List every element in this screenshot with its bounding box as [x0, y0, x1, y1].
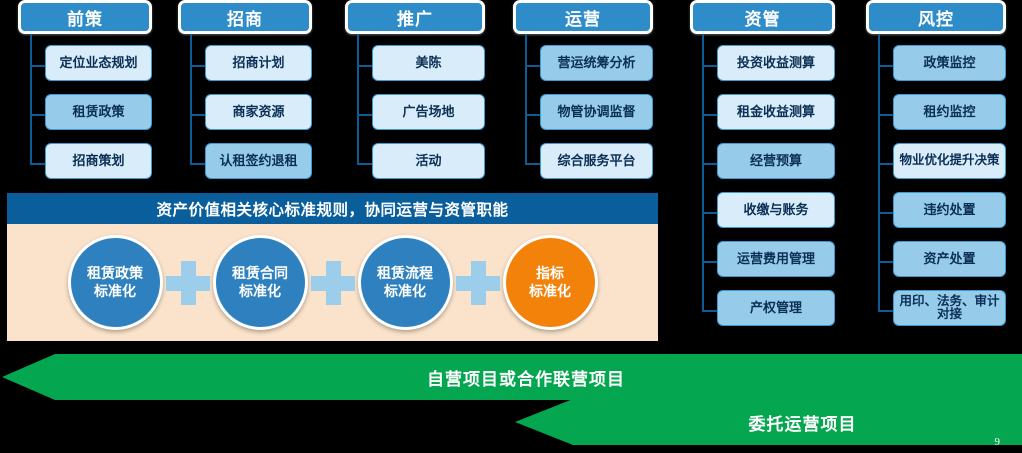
connector-stub: [525, 114, 541, 116]
column-header[interactable]: 招商: [178, 0, 312, 34]
column-items: 营运统筹分析物管协调监督综合服务平台: [513, 42, 653, 189]
item-row: 租赁政策: [18, 91, 152, 140]
connector-stub: [702, 310, 718, 312]
item-row: 活动: [345, 140, 485, 189]
item-row: 招商计划: [178, 42, 312, 91]
connector-stub: [878, 310, 894, 312]
arrow-self-operated: 自营项目或合作联营项目: [0, 354, 1022, 400]
item-row: 物业优化提升决策: [866, 140, 1006, 189]
function-item[interactable]: 物业优化提升决策: [893, 143, 1006, 179]
diagram-canvas: 前策定位业态规划租赁政策招商策划招商招商计划商家资源认租签约退租推广美陈广告场地…: [0, 0, 1022, 453]
plus-icon: [311, 261, 355, 305]
connector-stub: [702, 163, 718, 165]
item-row: 投资收益测算: [690, 42, 835, 91]
connector-stub: [357, 163, 373, 165]
function-item[interactable]: 美陈: [372, 45, 485, 81]
connector-stub: [878, 114, 894, 116]
item-row: 定位业态规划: [18, 42, 152, 91]
function-item[interactable]: 租金收益测算: [717, 94, 835, 130]
item-row: 物管协调监督: [513, 91, 653, 140]
function-item[interactable]: 运营费用管理: [717, 241, 835, 277]
item-row: 广告场地: [345, 91, 485, 140]
connector-stub: [702, 261, 718, 263]
connector-stub: [190, 163, 206, 165]
function-item[interactable]: 营运统筹分析: [540, 45, 653, 81]
function-item[interactable]: 违约处置: [893, 192, 1006, 228]
item-row: 资产处置: [866, 238, 1006, 287]
column-3: 推广美陈广告场地活动: [345, 0, 485, 34]
item-row: 综合服务平台: [513, 140, 653, 189]
item-row: 违约处置: [866, 189, 1006, 238]
connector-stub: [702, 114, 718, 116]
connector-stub: [702, 65, 718, 67]
function-item[interactable]: 资产处置: [893, 241, 1006, 277]
function-item[interactable]: 政策监控: [893, 45, 1006, 81]
item-row: 产权管理: [690, 287, 835, 336]
function-item[interactable]: 活动: [372, 143, 485, 179]
plus-icon: [456, 261, 500, 305]
plus-icon: [166, 261, 210, 305]
item-row: 运营费用管理: [690, 238, 835, 287]
arrow-entrusted-operation-label: 委托运营项目: [749, 410, 857, 435]
standardization-circle[interactable]: 租赁合同标准化: [213, 235, 308, 330]
connector-stub: [878, 212, 894, 214]
function-item[interactable]: 收缴与账务: [717, 192, 835, 228]
function-item[interactable]: 招商策划: [45, 143, 152, 179]
function-item[interactable]: 投资收益测算: [717, 45, 835, 81]
connector-stub: [702, 212, 718, 214]
function-item[interactable]: 租赁政策: [45, 94, 152, 130]
column-items: 投资收益测算租金收益测算经营预算收缴与账务运营费用管理产权管理: [690, 42, 835, 336]
connector-stub: [357, 65, 373, 67]
connector-stub: [30, 163, 46, 165]
item-row: 经营预算: [690, 140, 835, 189]
connector-stub: [525, 163, 541, 165]
function-item[interactable]: 商家资源: [205, 94, 312, 130]
function-item[interactable]: 产权管理: [717, 290, 835, 326]
connector-stub: [30, 65, 46, 67]
function-item[interactable]: 招商计划: [205, 45, 312, 81]
item-row: 美陈: [345, 42, 485, 91]
function-item[interactable]: 用印、法务、审计对接: [893, 290, 1006, 326]
column-items: 定位业态规划租赁政策招商策划: [18, 42, 152, 189]
standardization-circle[interactable]: 指标标准化: [503, 235, 598, 330]
column-header[interactable]: 运营: [513, 0, 653, 34]
column-5: 资管投资收益测算租金收益测算经营预算收缴与账务运营费用管理产权管理: [690, 0, 835, 34]
item-row: 租约监控: [866, 91, 1006, 140]
item-row: 政策监控: [866, 42, 1006, 91]
connector-stub: [357, 114, 373, 116]
column-items: 政策监控租约监控物业优化提升决策违约处置资产处置用印、法务、审计对接: [866, 42, 1006, 336]
item-row: 收缴与账务: [690, 189, 835, 238]
function-item[interactable]: 广告场地: [372, 94, 485, 130]
column-items: 招商计划商家资源认租签约退租: [178, 42, 312, 189]
standardization-panel: 资产价值相关核心标准规则，协同运营与资管职能 租赁政策标准化租赁合同标准化租赁流…: [7, 193, 658, 341]
standardization-circles: 租赁政策标准化租赁合同标准化租赁流程标准化指标标准化: [7, 224, 658, 341]
column-4: 运营营运统筹分析物管协调监督综合服务平台: [513, 0, 653, 34]
column-header[interactable]: 风控: [866, 0, 1006, 34]
standardization-panel-title: 资产价值相关核心标准规则，协同运营与资管职能: [7, 193, 658, 224]
column-1: 前策定位业态规划租赁政策招商策划: [18, 0, 152, 34]
standardization-circle[interactable]: 租赁政策标准化: [68, 235, 163, 330]
item-row: 商家资源: [178, 91, 312, 140]
connector-stub: [190, 114, 206, 116]
item-row: 招商策划: [18, 140, 152, 189]
function-item[interactable]: 租约监控: [893, 94, 1006, 130]
item-row: 用印、法务、审计对接: [866, 287, 1006, 336]
item-row: 租金收益测算: [690, 91, 835, 140]
connector-stub: [878, 163, 894, 165]
function-item[interactable]: 综合服务平台: [540, 143, 653, 179]
connector-stub: [525, 65, 541, 67]
arrow-self-operated-label: 自营项目或合作联营项目: [427, 365, 625, 390]
item-row: 营运统筹分析: [513, 42, 653, 91]
column-header[interactable]: 前策: [18, 0, 152, 34]
page-number: 9: [995, 436, 1001, 448]
standardization-circle[interactable]: 租赁流程标准化: [358, 235, 453, 330]
column-2: 招商招商计划商家资源认租签约退租: [178, 0, 312, 34]
connector-stub: [190, 65, 206, 67]
connector-stub: [30, 114, 46, 116]
column-items: 美陈广告场地活动: [345, 42, 485, 189]
function-item[interactable]: 经营预算: [717, 143, 835, 179]
function-item[interactable]: 认租签约退租: [205, 143, 312, 179]
connector-stub: [878, 65, 894, 67]
connector-stub: [878, 261, 894, 263]
function-item[interactable]: 物管协调监督: [540, 94, 653, 130]
column-header[interactable]: 推广: [345, 0, 485, 34]
item-row: 认租签约退租: [178, 140, 312, 189]
column-header[interactable]: 资管: [690, 0, 835, 34]
column-6: 风控政策监控租约监控物业优化提升决策违约处置资产处置用印、法务、审计对接: [866, 0, 1006, 34]
function-item[interactable]: 定位业态规划: [45, 45, 152, 81]
arrow-entrusted-operation: 委托运营项目: [513, 399, 1022, 445]
